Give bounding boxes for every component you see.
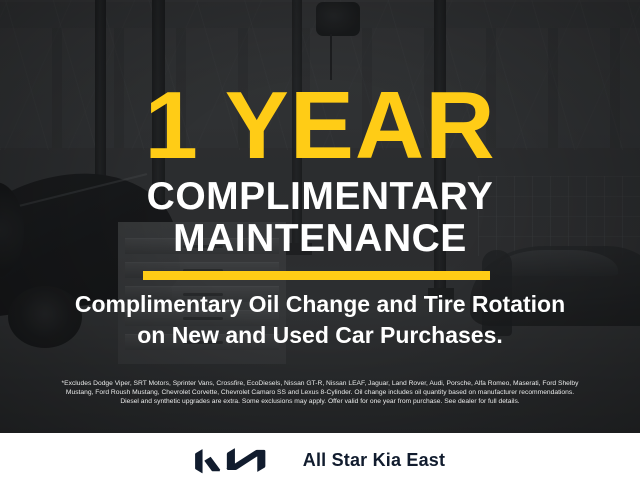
dealer-name: All Star Kia East	[303, 450, 445, 471]
disclaimer-line-2: Mustang, Ford Roush Mustang, Chevrolet C…	[14, 388, 626, 397]
offer-description-line-1: Complimentary Oil Change and Tire Rotati…	[0, 293, 640, 316]
banner-footer: All Star Kia East	[0, 433, 640, 488]
offer-description-line-2: on New and Used Car Purchases.	[0, 324, 640, 347]
headline-1-year: 1 YEAR	[0, 78, 640, 174]
yellow-divider-bar	[143, 271, 490, 280]
disclaimer-line-1: *Excludes Dodge Viper, SRT Motors, Sprin…	[14, 379, 626, 388]
subheadline-complimentary: COMPLIMENTARY	[0, 177, 640, 216]
disclaimer-line-3: Diesel and synthetic upgrades are extra.…	[14, 397, 626, 406]
promotional-banner: 1 YEAR COMPLIMENTARY MAINTENANCE Complim…	[0, 0, 640, 488]
banner-content: 1 YEAR COMPLIMENTARY MAINTENANCE Complim…	[0, 0, 640, 433]
kia-logo-icon	[195, 448, 281, 474]
subheadline-maintenance: MAINTENANCE	[0, 219, 640, 258]
